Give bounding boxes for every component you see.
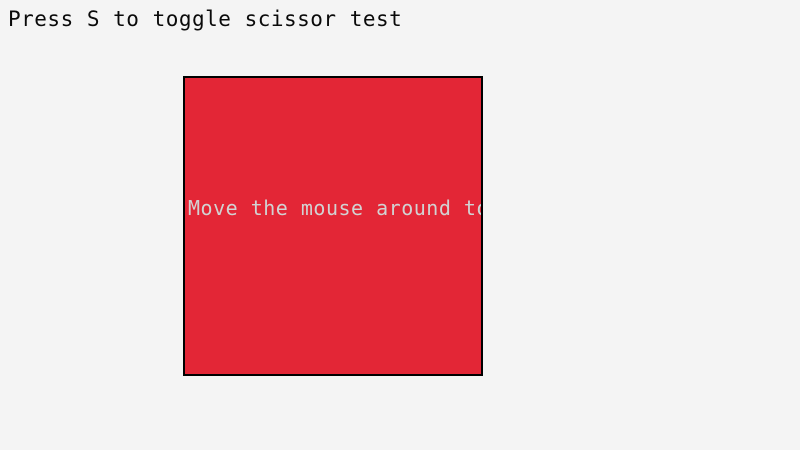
scissor-toggle-hint: Press S to toggle scissor test (8, 6, 402, 32)
clipped-instruction-text: Move the mouse around to resize the scis… (188, 196, 481, 220)
scissor-clip-region: Move the mouse around to resize the scis… (185, 78, 481, 374)
demo-canvas: Press S to toggle scissor test Move the … (0, 0, 800, 450)
scissor-rectangle[interactable]: Move the mouse around to resize the scis… (183, 76, 483, 376)
